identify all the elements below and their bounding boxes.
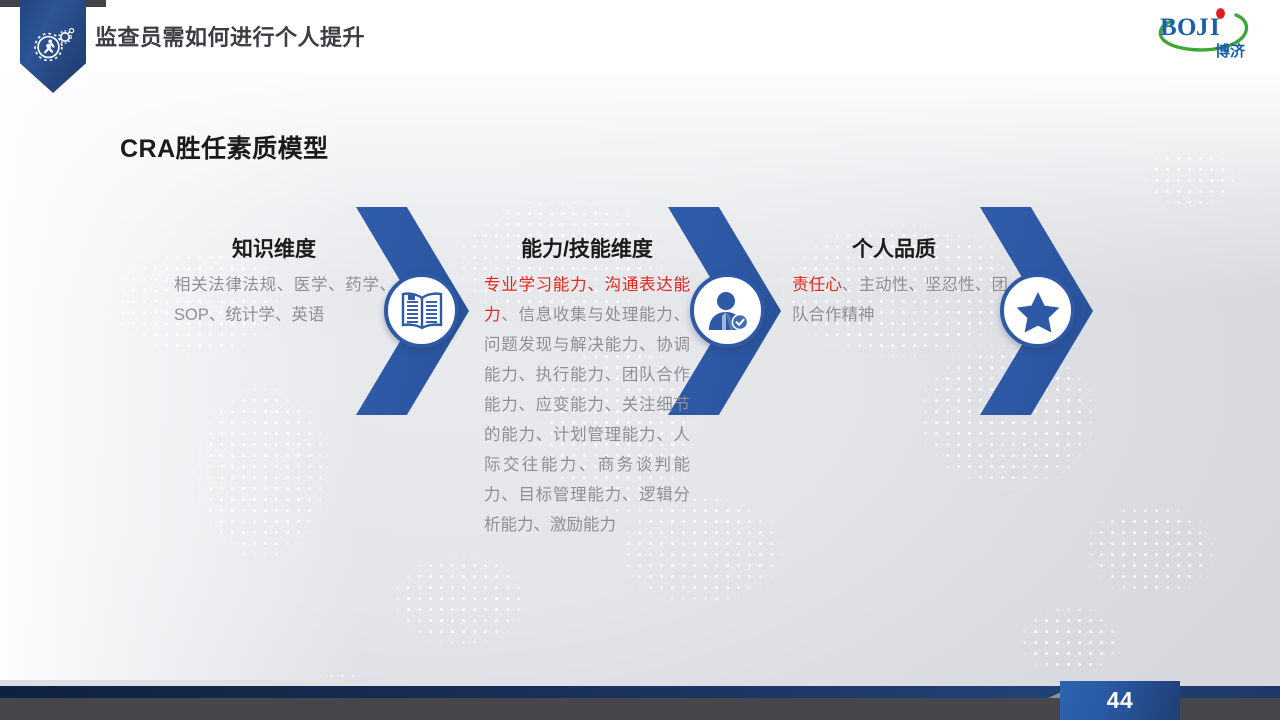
- column-1-body: 相关法律法规、医学、药学、SOP、统计学、英语: [174, 270, 396, 330]
- column-2-body: 专业学习能力、沟通表达能力、信息收集与处理能力、问题发现与解决能力、协调能力、执…: [484, 270, 690, 540]
- column-3-text-highlight: 责任心: [792, 276, 842, 294]
- column-personal-quality: 个人品质 责任心、主动性、坚忍性、团队合作精神: [792, 233, 1008, 330]
- column-2-text-rest: 、信息收集与处理能力、问题发现与解决能力、协调能力、执行能力、团队合作能力、应变…: [484, 306, 690, 534]
- slide-canvas: 监查员需如何进行个人提升 B O J I 博济 CRA胜任素质模型: [0, 0, 1280, 720]
- column-1-text-0: 相关法律法规、医学、药学、SOP、统计学、英语: [174, 276, 396, 324]
- column-3-body: 责任心、主动性、坚忍性、团队合作精神: [792, 270, 1008, 330]
- page-title: 监查员需如何进行个人提升: [95, 20, 365, 52]
- open-book-icon: [384, 273, 459, 348]
- page-number-label: 44: [1107, 687, 1134, 714]
- svg-text:J: J: [1196, 14, 1208, 41]
- slide-heading: CRA胜任素质模型: [120, 129, 329, 165]
- svg-text:O: O: [1177, 14, 1196, 41]
- verified-person-icon: [690, 273, 765, 348]
- column-1-heading: 知识维度: [174, 233, 396, 263]
- column-2-heading: 能力/技能维度: [484, 233, 690, 263]
- svg-text:博济: 博济: [1215, 42, 1246, 60]
- column-3-heading: 个人品质: [792, 233, 1008, 263]
- svg-text:B: B: [1160, 14, 1176, 41]
- star-icon: [1000, 273, 1075, 348]
- column-ability-skill: 能力/技能维度 专业学习能力、沟通表达能力、信息收集与处理能力、问题发现与解决能…: [484, 233, 690, 540]
- page-number-badge: 44: [1060, 681, 1180, 720]
- svg-text:I: I: [1210, 14, 1219, 41]
- boji-logo: B O J I 博济: [1140, 6, 1262, 64]
- column-knowledge: 知识维度 相关法律法规、医学、药学、SOP、统计学、英语: [174, 233, 396, 330]
- gear-runner-icon: [30, 26, 76, 66]
